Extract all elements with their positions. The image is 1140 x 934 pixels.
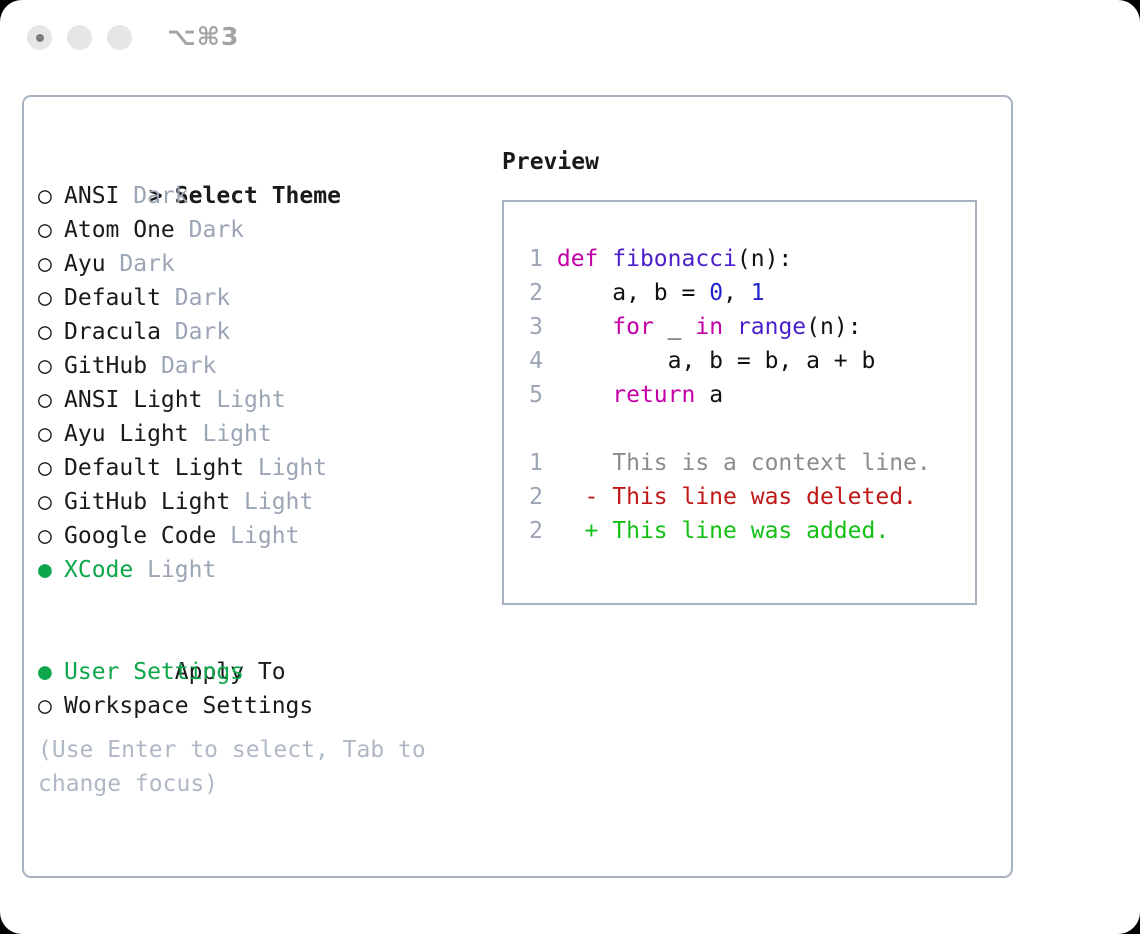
diff-marker: + — [585, 518, 613, 544]
code-line: 3 for _ in range(n): — [519, 310, 967, 344]
theme-name-label: Ayu Light — [64, 421, 189, 447]
theme-name-label: Google Code — [64, 523, 216, 549]
code-line: 5 return a — [519, 378, 967, 412]
apply-to-item[interactable]: ○Workspace Settings — [38, 689, 478, 723]
theme-variant-label: Light — [216, 523, 299, 549]
theme-list: ○ANSI Dark○Atom One Dark○Ayu Dark○Defaul… — [38, 179, 478, 587]
radio-selected-icon: ● — [38, 553, 64, 587]
select-theme-header: >Select Theme — [38, 145, 478, 179]
line-number: 1 — [519, 242, 543, 276]
code-token-kw: return — [612, 382, 695, 408]
radio-unselected-icon: ○ — [38, 315, 64, 349]
window-minimize-button[interactable] — [67, 25, 92, 50]
preview-column: Preview 1 def fibonacci(n):2 a, b = 0, 1… — [502, 145, 997, 605]
window-controls — [27, 25, 132, 50]
theme-name-label: ANSI — [64, 183, 119, 209]
diff-text: This line was added. — [612, 518, 889, 544]
theme-list-item[interactable]: ○GitHub Light Light — [38, 485, 478, 519]
main-panel: >Select Theme ○ANSI Dark○Atom One Dark○A… — [22, 95, 1013, 878]
theme-name-label: Default — [64, 285, 161, 311]
theme-list-item[interactable]: ○Google Code Light — [38, 519, 478, 553]
theme-name-label: XCode — [64, 557, 133, 583]
radio-unselected-icon: ○ — [38, 213, 64, 247]
theme-name-label: Dracula — [64, 319, 161, 345]
apply-to-label: Workspace Settings — [64, 693, 313, 719]
window-maximize-button[interactable] — [107, 25, 132, 50]
active-indicator-icon — [36, 34, 44, 42]
theme-list-item[interactable]: ○GitHub Dark — [38, 349, 478, 383]
theme-variant-label: Light — [244, 455, 327, 481]
theme-list-item[interactable]: ○ANSI Light Light — [38, 383, 478, 417]
preview-code-area: 1 def fibonacci(n):2 a, b = 0, 13 for _ … — [519, 242, 967, 548]
code-line: 2 a, b = 0, 1 — [519, 276, 967, 310]
diff-text: This line was deleted. — [612, 484, 917, 510]
code-line: 4 a, b = b, a + b — [519, 344, 967, 378]
line-number: 2 — [519, 480, 543, 514]
diff-sample-block: 1 This is a context line.2 - This line w… — [519, 446, 967, 548]
radio-unselected-icon: ○ — [38, 281, 64, 315]
code-token-kw: def — [557, 246, 612, 272]
theme-variant-label: Dark — [161, 285, 230, 311]
theme-list-item[interactable]: ○Atom One Dark — [38, 213, 478, 247]
radio-unselected-icon: ○ — [38, 179, 64, 213]
line-number: 5 — [519, 378, 543, 412]
line-number: 3 — [519, 310, 543, 344]
theme-name-label: Default Light — [64, 455, 244, 481]
radio-selected-icon: ● — [38, 655, 64, 689]
theme-name-label: Atom One — [64, 217, 175, 243]
keyboard-hint-text: (Use Enter to select, Tab to change focu… — [38, 733, 448, 801]
section-spacer — [38, 587, 478, 621]
radio-unselected-icon: ○ — [38, 485, 64, 519]
theme-name-label: Ayu — [64, 251, 106, 277]
code-token-plain: (n): — [806, 314, 861, 340]
select-theme-header-label: Select Theme — [175, 183, 341, 209]
code-token-fn: range — [737, 314, 806, 340]
theme-list-item[interactable]: ●XCode Light — [38, 553, 478, 587]
diff-line: 2 + This line was added. — [519, 514, 967, 548]
line-number: 2 — [519, 276, 543, 310]
window-titlebar: ⌥⌘3 — [0, 0, 1140, 78]
code-token-plain — [557, 314, 612, 340]
code-token-plain: a, b = b, a + b — [557, 348, 876, 374]
theme-name-label: ANSI Light — [64, 387, 202, 413]
radio-unselected-icon: ○ — [38, 417, 64, 451]
diff-line: 2 - This line was deleted. — [519, 480, 967, 514]
code-token-num: 0 — [709, 280, 723, 306]
theme-variant-label: Dark — [161, 319, 230, 345]
radio-unselected-icon: ○ — [38, 451, 64, 485]
theme-name-label: GitHub — [64, 353, 147, 379]
code-token-plain — [557, 382, 612, 408]
line-number: 2 — [519, 514, 543, 548]
theme-variant-label: Dark — [119, 183, 188, 209]
code-diff-spacer — [519, 412, 967, 446]
preview-box: 1 def fibonacci(n):2 a, b = 0, 13 for _ … — [502, 200, 977, 605]
radio-unselected-icon: ○ — [38, 247, 64, 281]
theme-list-item[interactable]: ○Ayu Light Light — [38, 417, 478, 451]
code-token-num: 1 — [751, 280, 765, 306]
code-sample-block: 1 def fibonacci(n):2 a, b = 0, 13 for _ … — [519, 242, 967, 412]
theme-variant-label: Light — [189, 421, 272, 447]
radio-unselected-icon: ○ — [38, 349, 64, 383]
preview-title: Preview — [502, 145, 997, 179]
keyboard-shortcut-label: ⌥⌘3 — [167, 22, 239, 51]
theme-variant-label: Dark — [147, 353, 216, 379]
apply-to-label: User Settings — [64, 659, 244, 685]
code-token-kw: in — [695, 314, 723, 340]
theme-list-item[interactable]: ○Dracula Dark — [38, 315, 478, 349]
theme-variant-label: Light — [133, 557, 216, 583]
theme-variant-label: Light — [202, 387, 285, 413]
theme-variant-label: Dark — [175, 217, 244, 243]
diff-line: 1 This is a context line. — [519, 446, 967, 480]
diff-marker: - — [585, 484, 613, 510]
diff-text: This is a context line. — [612, 450, 931, 476]
code-token-plain: (n): — [737, 246, 792, 272]
code-line: 1 def fibonacci(n): — [519, 242, 967, 276]
theme-variant-label: Dark — [106, 251, 175, 277]
theme-list-item[interactable]: ○Ayu Dark — [38, 247, 478, 281]
apply-to-header: Apply To — [38, 621, 478, 655]
line-number: 1 — [519, 446, 543, 480]
theme-list-item[interactable]: ○Default Light Light — [38, 451, 478, 485]
theme-name-label: GitHub Light — [64, 489, 230, 515]
code-token-plain: a — [695, 382, 723, 408]
line-number: 4 — [519, 344, 543, 378]
theme-variant-label: Light — [230, 489, 313, 515]
theme-list-item[interactable]: ○Default Dark — [38, 281, 478, 315]
code-token-kw: for — [612, 314, 654, 340]
theme-picker-window: ⌥⌘3 >Select Theme ○ANSI Dark○Atom One Da… — [0, 0, 1140, 934]
radio-unselected-icon: ○ — [38, 519, 64, 553]
radio-unselected-icon: ○ — [38, 383, 64, 417]
code-token-plain: a, b = — [557, 280, 709, 306]
theme-selector-column: >Select Theme ○ANSI Dark○Atom One Dark○A… — [38, 145, 478, 801]
code-token-fn: fibonacci — [612, 246, 737, 272]
window-close-button[interactable] — [27, 25, 52, 50]
code-token-plain: _ — [654, 314, 696, 340]
code-token-plain: , — [723, 280, 751, 306]
diff-marker — [585, 450, 613, 476]
radio-unselected-icon: ○ — [38, 689, 64, 723]
code-token-plain — [723, 314, 737, 340]
